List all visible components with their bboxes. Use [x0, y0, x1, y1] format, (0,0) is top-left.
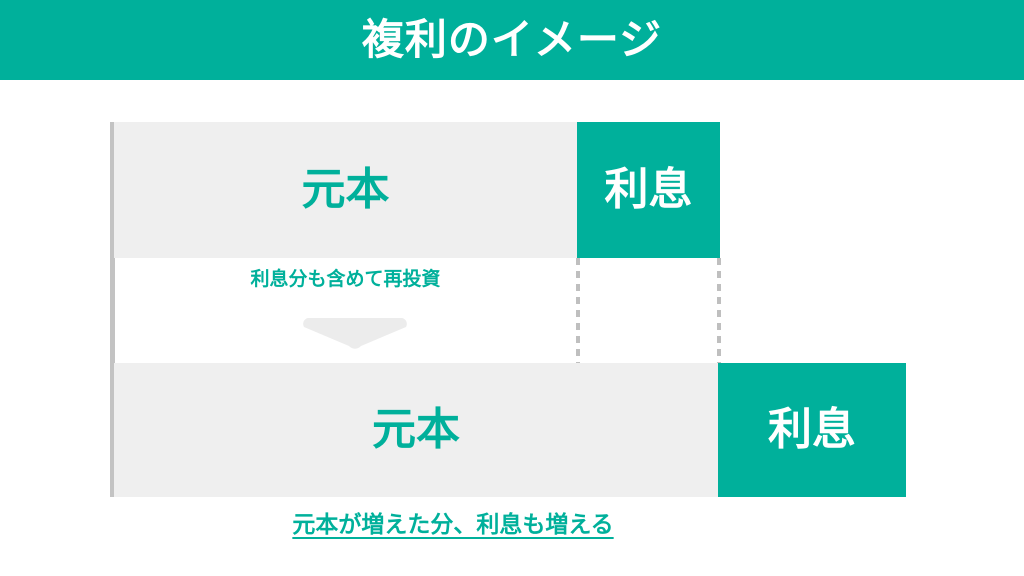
- header-band: 複利のイメージ: [0, 0, 1024, 80]
- year2-principal-segment: 元本: [114, 363, 718, 497]
- guide-line-right: [717, 258, 721, 363]
- compound-interest-diagram: 元本 利息 利息分も含めて再投資 元本 利息 元本が増えた分、利息も増える: [0, 80, 1024, 576]
- year2-interest-label: 利息: [768, 408, 856, 452]
- year1-interest-segment: 利息: [577, 122, 720, 258]
- guide-line-left: [576, 258, 580, 363]
- year1-principal-segment: 元本: [114, 122, 577, 258]
- reinvest-section: 利息分も含めて再投資: [114, 258, 720, 363]
- year1-principal-label: 元本: [302, 168, 390, 212]
- arrow-down-icon: [302, 316, 408, 349]
- year1-interest-label: 利息: [605, 168, 693, 212]
- year2-interest-segment: 利息: [718, 363, 906, 497]
- year2-bar-row: 元本 利息: [114, 363, 906, 497]
- reinvest-note: 利息分も含めて再投資: [114, 270, 577, 289]
- year1-bar-row: 元本 利息: [114, 122, 720, 258]
- year2-principal-label: 元本: [372, 408, 460, 452]
- page-title: 複利のイメージ: [362, 19, 662, 61]
- summary-caption: 元本が増えた分、利息も増える: [0, 512, 906, 540]
